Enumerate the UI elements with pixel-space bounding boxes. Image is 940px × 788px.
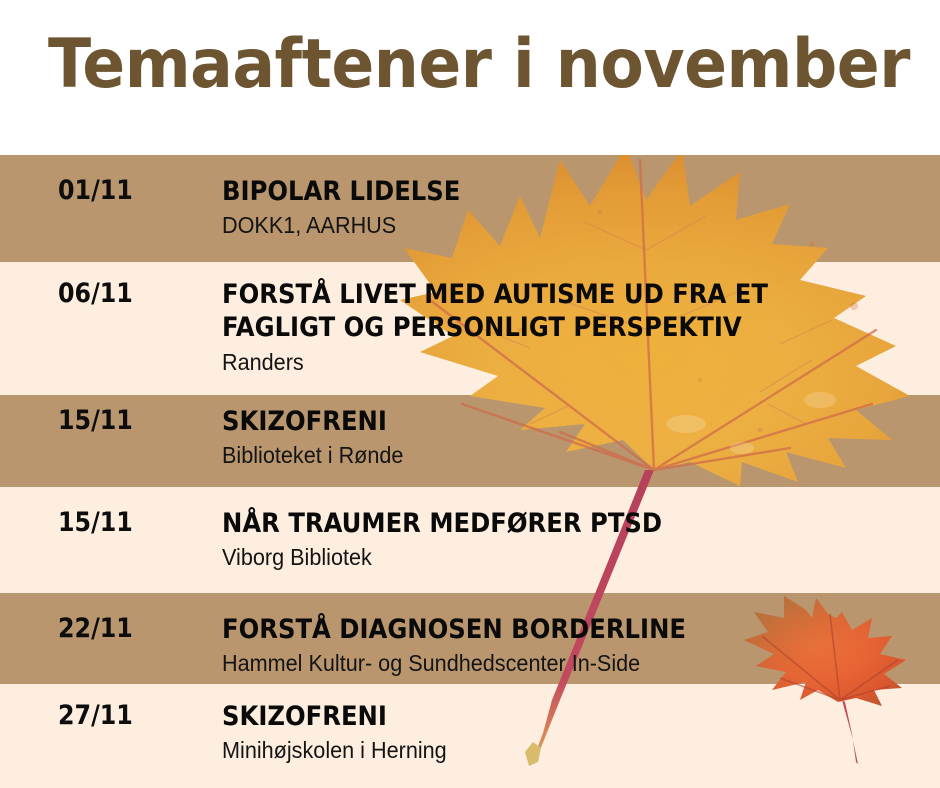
event-date: 06/11 (58, 278, 133, 309)
event-venue: Minihøjskolen i Herning (222, 736, 880, 766)
event-body: FORSTÅ LIVET MED AUTISME UD FRA ET FAGLI… (222, 278, 922, 378)
event-venue: DOKK1, AARHUS (222, 211, 880, 241)
poster-canvas: Temaaftener i november 01/11 BIPOLAR LID… (0, 0, 940, 788)
event-body: FORSTÅ DIAGNOSEN BORDERLINE Hammel Kultu… (222, 613, 922, 679)
event-date: 01/11 (58, 175, 133, 206)
event-body: NÅR TRAUMER MEDFØRER PTSD Viborg Bibliot… (222, 507, 922, 573)
event-venue: Biblioteket i Rønde (222, 441, 880, 471)
event-venue: Viborg Bibliotek (222, 543, 880, 573)
event-body: SKIZOFRENI Minihøjskolen i Herning (222, 700, 922, 766)
event-title: SKIZOFRENI (222, 700, 852, 733)
page-title: Temaaftener i november (48, 26, 910, 104)
event-title: FORSTÅ LIVET MED AUTISME UD FRA ET FAGLI… (222, 278, 852, 345)
poster-header: Temaaftener i november (0, 0, 940, 155)
event-date: 15/11 (58, 507, 133, 538)
event-venue: Hammel Kultur- og Sundhedscenter In-Side (222, 649, 880, 679)
event-venue: Randers (222, 348, 880, 378)
event-date: 22/11 (58, 613, 133, 644)
event-title: NÅR TRAUMER MEDFØRER PTSD (222, 507, 852, 540)
event-title: SKIZOFRENI (222, 405, 852, 438)
event-title: FORSTÅ DIAGNOSEN BORDERLINE (222, 613, 852, 646)
event-body: BIPOLAR LIDELSE DOKK1, AARHUS (222, 175, 922, 241)
event-date: 15/11 (58, 405, 133, 436)
event-date: 27/11 (58, 700, 133, 731)
event-body: SKIZOFRENI Biblioteket i Rønde (222, 405, 922, 471)
event-title: BIPOLAR LIDELSE (222, 175, 852, 208)
